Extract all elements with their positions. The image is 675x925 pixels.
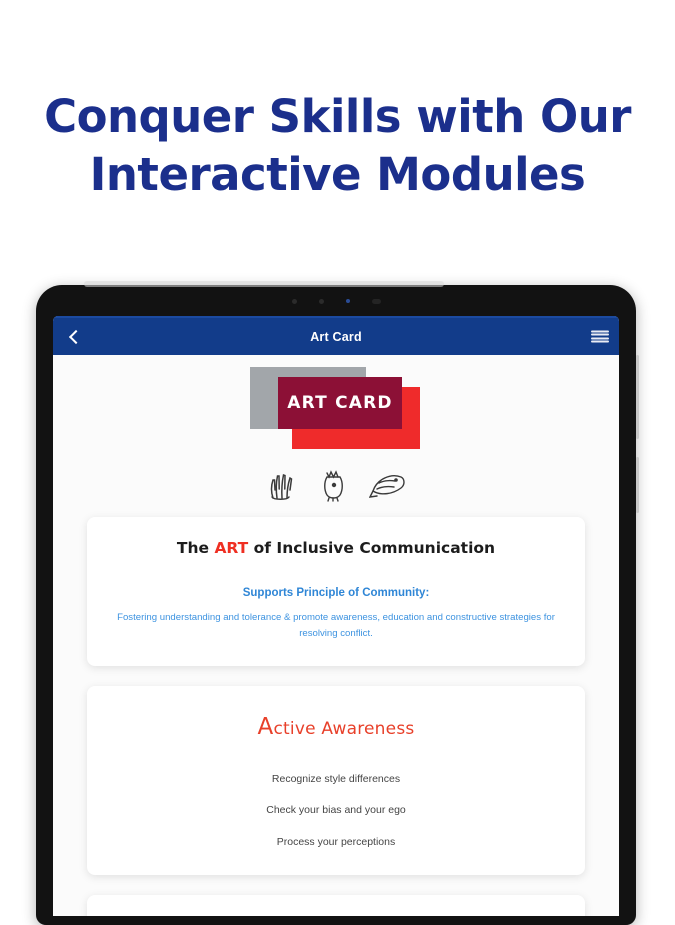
headline-line-2: Interactive Modules <box>0 146 675 204</box>
brand-logo-area: ART CARD <box>53 355 619 461</box>
list-item: Recognize style differences <box>111 774 561 785</box>
app-header-bar: Art Card <box>53 316 619 355</box>
card-title-initial: A <box>258 714 274 740</box>
bird-sketch-icon <box>319 468 349 502</box>
fish-sketch-icon <box>369 469 407 501</box>
page-title: Art Card <box>310 330 362 344</box>
tablet-antenna-strip <box>84 281 444 287</box>
promo-headline: Conquer Skills with Our Interactive Modu… <box>0 88 675 203</box>
card-body-text: Fostering understanding and tolerance & … <box>111 610 561 642</box>
menu-line <box>591 337 609 339</box>
card-title: The ART of Inclusive Communication <box>111 539 561 557</box>
list-item: Check your bias and your ego <box>111 805 561 816</box>
tablet-device-mockup: Art Card ART CARD <box>36 285 636 925</box>
card-inclusive-communication[interactable]: The ART of Inclusive Communication Suppo… <box>87 517 585 666</box>
speaker-slit-icon <box>372 299 381 304</box>
logo-text: ART CARD <box>287 393 392 413</box>
hamburger-menu-icon[interactable] <box>591 329 609 344</box>
chevron-left-icon <box>68 329 82 343</box>
indicator-led-icon <box>346 299 350 303</box>
card-active-awareness[interactable]: Active Awareness Recognize style differe… <box>87 686 585 876</box>
art-card-logo: ART CARD <box>250 367 422 449</box>
menu-line <box>591 330 609 332</box>
logo-maroon-rect: ART CARD <box>278 377 402 429</box>
sketch-illustration-row <box>53 461 619 509</box>
back-button[interactable] <box>63 326 85 348</box>
card-subtitle: Supports Principle of Community: <box>111 587 561 599</box>
menu-line <box>591 334 609 336</box>
volume-down-button[interactable] <box>636 457 639 513</box>
headline-line-1: Conquer Skills with Our <box>0 88 675 146</box>
card-title: Active Awareness <box>111 714 561 740</box>
volume-up-button[interactable] <box>636 355 639 439</box>
list-item: Process your perceptions <box>111 837 561 848</box>
card-title-prefix: The <box>177 539 215 557</box>
hands-sketch-icon <box>265 468 299 502</box>
tablet-screen: Art Card ART CARD <box>53 316 619 916</box>
app-content-scroll[interactable]: ART CARD <box>53 355 619 916</box>
menu-line <box>591 341 609 343</box>
sensor-dot-icon <box>292 299 297 304</box>
card-title-suffix: of Inclusive Communication <box>248 539 495 557</box>
card-title-rest: ctive Awareness <box>273 719 414 739</box>
tablet-camera-row <box>36 297 636 305</box>
card-next-section[interactable] <box>87 895 585 916</box>
card-title-accent: ART <box>214 539 248 557</box>
camera-lens-icon <box>319 299 324 304</box>
